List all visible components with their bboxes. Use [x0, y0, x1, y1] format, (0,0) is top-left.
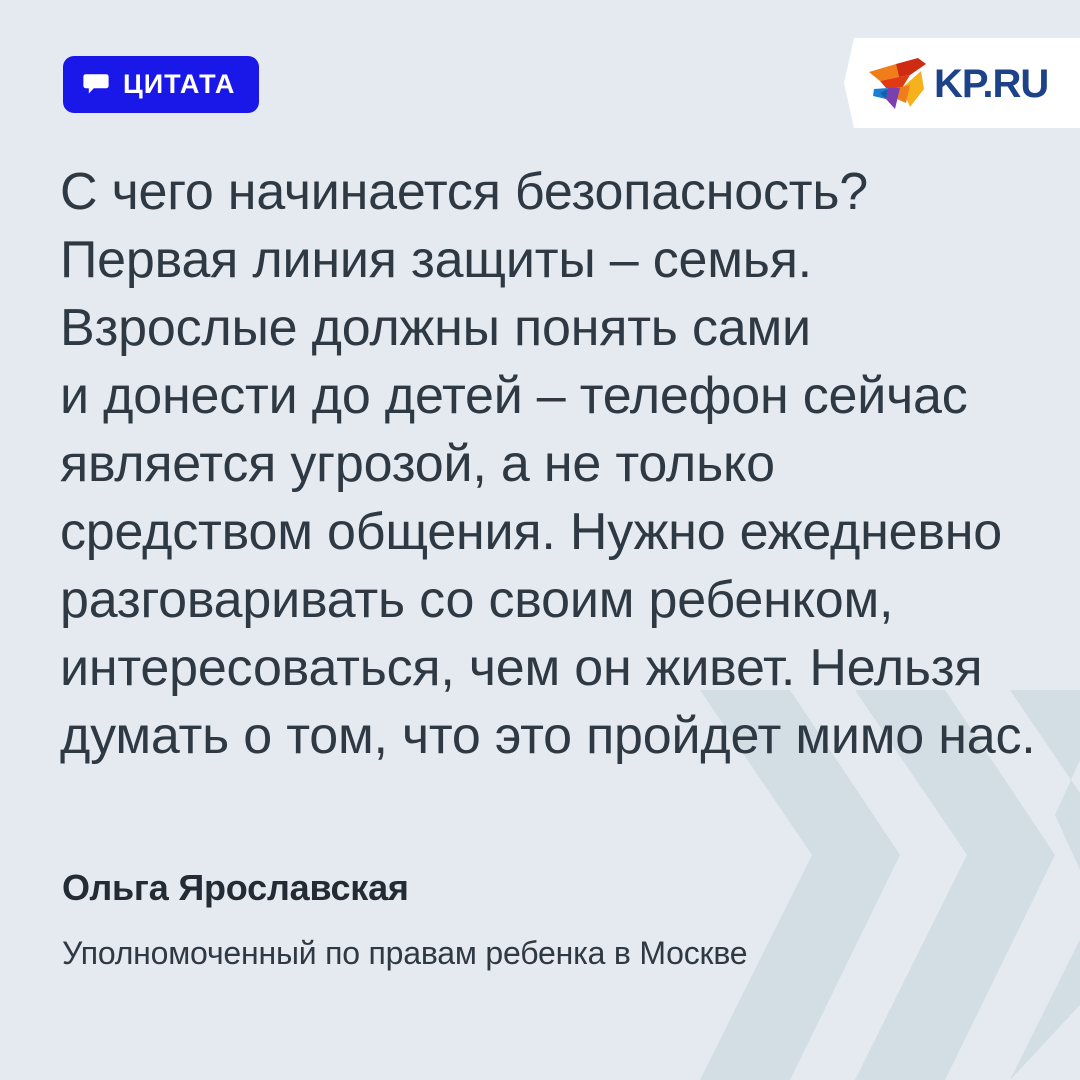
attribution: Ольга Ярославская Уполномоченный по прав… [62, 866, 747, 972]
author-role: Уполномоченный по правам ребенка в Москв… [62, 934, 747, 972]
kpru-wordmark: KP.RU [934, 64, 1048, 104]
speech-bubble-icon [83, 71, 109, 97]
swallow-bird-icon [866, 55, 928, 111]
quote-card: ЦИТАТА KP.RU С чего начинается безопасно… [0, 0, 1080, 1080]
quote-line: интересоваться, чем он живет. Нельзя [60, 634, 1040, 702]
quote-badge-label: ЦИТАТА [123, 71, 235, 98]
kpru-logo[interactable]: KP.RU [844, 38, 1080, 128]
quote-line: Взрослые должны понять сами [60, 294, 1040, 362]
quote-line: и донести до детей – телефон сейчас [60, 362, 1040, 430]
quote-line: является угрозой, а не только [60, 430, 1040, 498]
quote-line: Первая линия защиты – семья. [60, 226, 1040, 294]
quote-line: разговаривать со своим ребенком, [60, 566, 1040, 634]
quote-line: С чего начинается безопасность? [60, 158, 1040, 226]
author-name: Ольга Ярославская [62, 866, 747, 910]
quote-text: С чего начинается безопасность? Первая л… [60, 158, 1040, 770]
quote-line: думать о том, что это пройдет мимо нас. [60, 702, 1040, 770]
quote-line: средством общения. Нужно ежедневно [60, 498, 1040, 566]
quote-badge: ЦИТАТА [63, 56, 259, 113]
